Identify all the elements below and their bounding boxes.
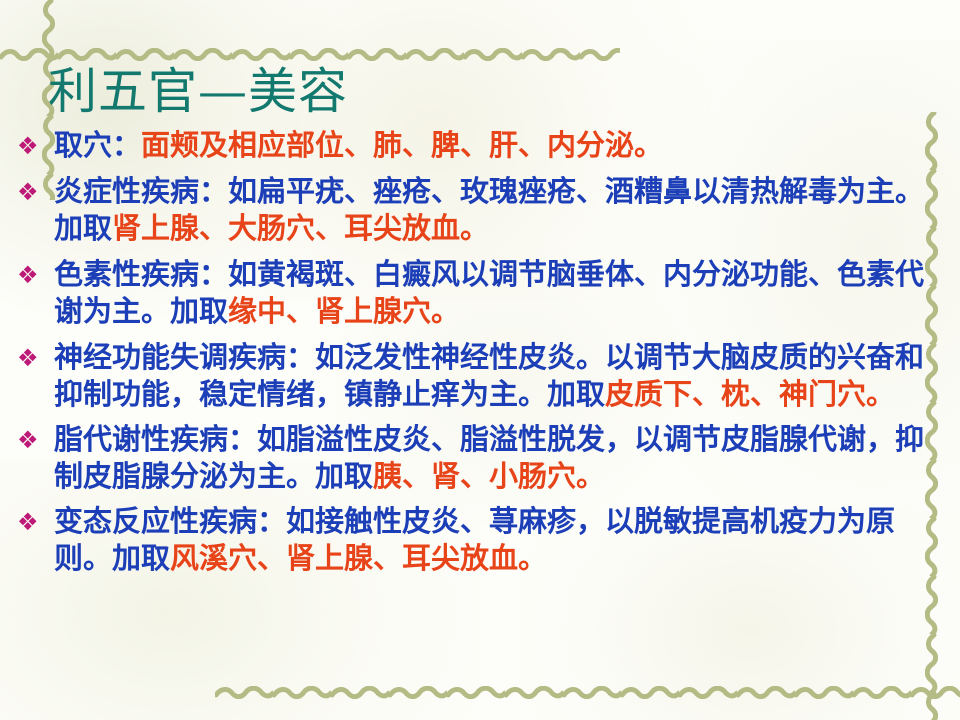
text-run-highlight: 风溪穴、肾上腺、耳尖放血。 bbox=[170, 541, 547, 575]
bullet-text: 神经功能失调疾病：如泛发性神经性皮炎。以调节大脑皮质的兴奋和抑制功能，稳定情绪，… bbox=[54, 340, 924, 411]
text-run-normal: 色素性疾病：如黄褐斑、白癜风以调节脑垂体、内分泌功能、色素代谢为主。加取 bbox=[54, 257, 924, 328]
text-run-highlight: 缘中、肾上腺穴。 bbox=[228, 294, 460, 328]
bullet-item-pigmentary-disease: ❖ 色素性疾病：如黄褐斑、白癜风以调节脑垂体、内分泌功能、色素代谢为主。加取缘中… bbox=[10, 256, 926, 330]
text-run-normal: 取穴： bbox=[54, 128, 141, 162]
diamond-bullet-icon: ❖ bbox=[17, 504, 43, 540]
bullet-text: 炎症性疾病：如扁平疣、痤疮、玫瑰痤疮、酒糟鼻以清热解毒为主。加取肾上腺、大肠穴、… bbox=[54, 174, 924, 245]
diamond-bullet-icon: ❖ bbox=[17, 257, 43, 293]
bullet-text: 变态反应性疾病：如接触性皮炎、荨麻疹，以脱敏提高机疫力为原则。加取风溪穴、肾上腺… bbox=[54, 504, 895, 575]
slide-title: 利五官—美容 bbox=[48, 66, 348, 118]
text-run-highlight: 皮质下、枕、神门穴。 bbox=[605, 377, 895, 411]
text-run-highlight: 面颊及相应部位、肺、脾、肝、内分泌。 bbox=[141, 128, 663, 162]
bullet-text: 脂代谢性疾病：如脂溢性皮炎、脂溢性脱发，以调节皮脂腺代谢，抑制皮脂腺分泌为主。加… bbox=[54, 422, 924, 493]
slide-canvas: 利五官—美容 ❖ 取穴：面颊及相应部位、肺、脾、肝、内分泌。 ❖ 炎症性疾病：如… bbox=[0, 0, 960, 720]
bullet-item-inflammatory-disease: ❖ 炎症性疾病：如扁平疣、痤疮、玫瑰痤疮、酒糟鼻以清热解毒为主。加取肾上腺、大肠… bbox=[10, 173, 926, 247]
ornament-wavy-rule-bottom bbox=[215, 686, 960, 699]
text-run-highlight: 胰、肾、小肠穴。 bbox=[373, 459, 605, 493]
bullet-item-neurofunctional-disorder: ❖ 神经功能失调疾病：如泛发性神经性皮炎。以调节大脑皮质的兴奋和抑制功能，稳定情… bbox=[10, 339, 926, 413]
bullet-text: 色素性疾病：如黄褐斑、白癜风以调节脑垂体、内分泌功能、色素代谢为主。加取缘中、肾… bbox=[54, 257, 924, 328]
text-run-highlight: 肾上腺、大肠穴、耳尖放血。 bbox=[112, 211, 489, 245]
diamond-bullet-icon: ❖ bbox=[17, 422, 43, 458]
bullet-text: 取穴：面颊及相应部位、肺、脾、肝、内分泌。 bbox=[54, 128, 663, 162]
ornament-wavy-rule-top bbox=[0, 48, 620, 61]
bullet-item-allergic-disease: ❖ 变态反应性疾病：如接触性皮炎、荨麻疹，以脱敏提高机疫力为原则。加取风溪穴、肾… bbox=[10, 503, 926, 577]
diamond-bullet-icon: ❖ bbox=[17, 128, 43, 164]
ornament-wavy-rule-right bbox=[925, 112, 938, 720]
bullet-item-acupoint-selection: ❖ 取穴：面颊及相应部位、肺、脾、肝、内分泌。 bbox=[10, 127, 926, 164]
diamond-bullet-icon: ❖ bbox=[17, 340, 43, 376]
bullet-list: ❖ 取穴：面颊及相应部位、肺、脾、肝、内分泌。 ❖ 炎症性疾病：如扁平疣、痤疮、… bbox=[10, 127, 926, 580]
bullet-item-lipid-metabolic-disease: ❖ 脂代谢性疾病：如脂溢性皮炎、脂溢性脱发，以调节皮脂腺代谢，抑制皮脂腺分泌为主… bbox=[10, 421, 926, 495]
diamond-bullet-icon: ❖ bbox=[17, 174, 43, 210]
